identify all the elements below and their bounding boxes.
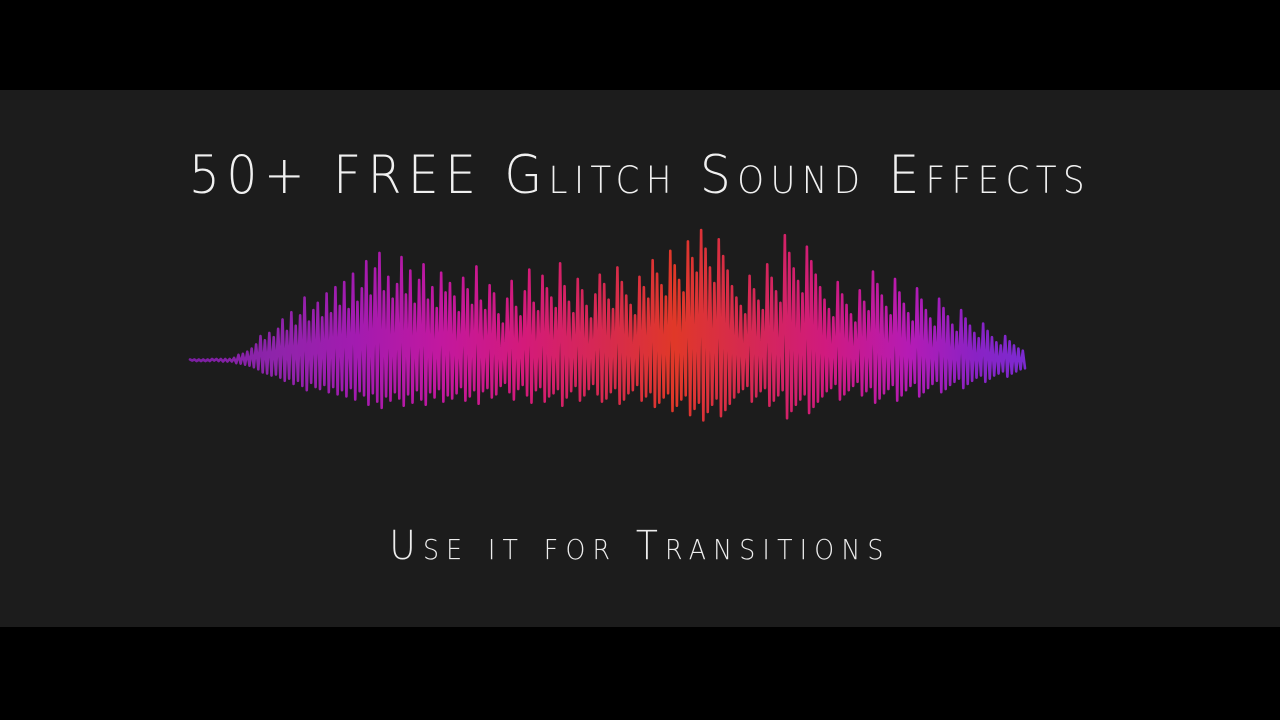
letterbox-bar-top bbox=[0, 0, 1280, 90]
video-frame: 50+ FREE Glitch Sound Effects Use it for… bbox=[0, 0, 1280, 720]
page-title: 50+ FREE Glitch Sound Effects bbox=[51, 143, 1229, 209]
page-subtitle: Use it for Transitions bbox=[64, 518, 1216, 574]
letterbox-bar-bottom bbox=[0, 627, 1280, 720]
